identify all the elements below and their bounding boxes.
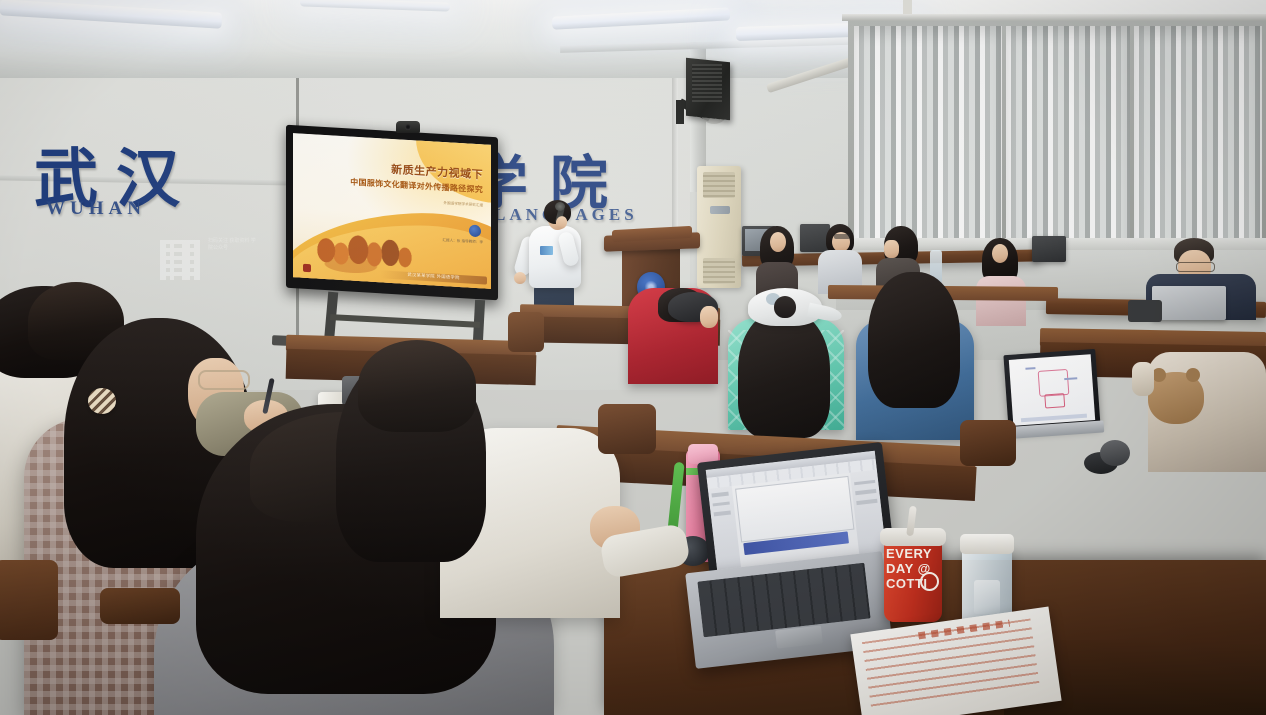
window-curtain — [1006, 26, 1130, 244]
wall-sign-english-left: WUHAN — [46, 198, 146, 220]
plush-ear-icon — [1186, 368, 1200, 382]
desk-device — [1128, 300, 1162, 322]
glasses-icon — [834, 234, 850, 239]
hair-tie-accessory — [88, 388, 116, 414]
attendee-pink-top — [976, 276, 1026, 326]
projected-wall-text: 扫码关注 获取资料 学院公众号 — [208, 238, 256, 252]
curtain-rail — [842, 14, 1266, 21]
desktop-monitor — [1032, 236, 1066, 262]
student-denim-hair — [868, 272, 960, 408]
speaker-grille — [692, 64, 722, 102]
laptop-silver-back[interactable] — [1152, 286, 1226, 320]
microphone-head-icon — [555, 202, 565, 211]
student-bun-hair — [358, 340, 476, 432]
attendee-face — [992, 244, 1008, 263]
student-white-cap-hair — [738, 310, 830, 438]
camera-lens-icon — [405, 124, 411, 130]
bottle-cap — [960, 534, 1014, 554]
student-arm — [1132, 362, 1154, 396]
chair-arm — [100, 588, 180, 624]
slide-seal-icon — [303, 264, 311, 272]
classroom-presentation-photo: 武汉 学院 WUHAN LANGUAGES 扫码关注 获取资料 学院公众号 新质… — [0, 0, 1266, 715]
plush-ear-icon — [1152, 368, 1166, 382]
glasses-icon — [1176, 262, 1215, 272]
chair-back — [508, 312, 544, 352]
chair-back — [0, 560, 58, 640]
desk-item-round — [1100, 440, 1130, 466]
tv-screen[interactable]: 新质生产力视域下 中国服饰文化翻译对外传播路径探究 外国语学院学术研究汇报 汇报… — [293, 133, 491, 289]
laptop-right-screen[interactable] — [1009, 354, 1095, 426]
bottle-highlight — [974, 580, 1000, 614]
ac-badge — [710, 206, 730, 214]
attendee-face — [770, 232, 786, 252]
window-curtain — [854, 26, 1002, 244]
student-face — [700, 306, 718, 328]
projected-qr-code-icon — [160, 240, 200, 280]
chair-back — [960, 420, 1016, 466]
chair-back — [598, 404, 656, 454]
ac-vent-grille — [703, 258, 735, 284]
slide-logo-icon — [469, 224, 481, 237]
ac-vent-grille — [703, 172, 735, 198]
shirt-logo-icon — [540, 246, 553, 255]
glasses-icon — [198, 370, 250, 390]
attendee-hand — [884, 240, 899, 258]
cap-back-opening — [774, 296, 796, 318]
window-curtain — [1134, 26, 1262, 244]
slide-dunhuang-figures — [309, 212, 432, 280]
presenter-left-hand — [514, 272, 526, 284]
cup-logo-icon — [920, 572, 939, 591]
